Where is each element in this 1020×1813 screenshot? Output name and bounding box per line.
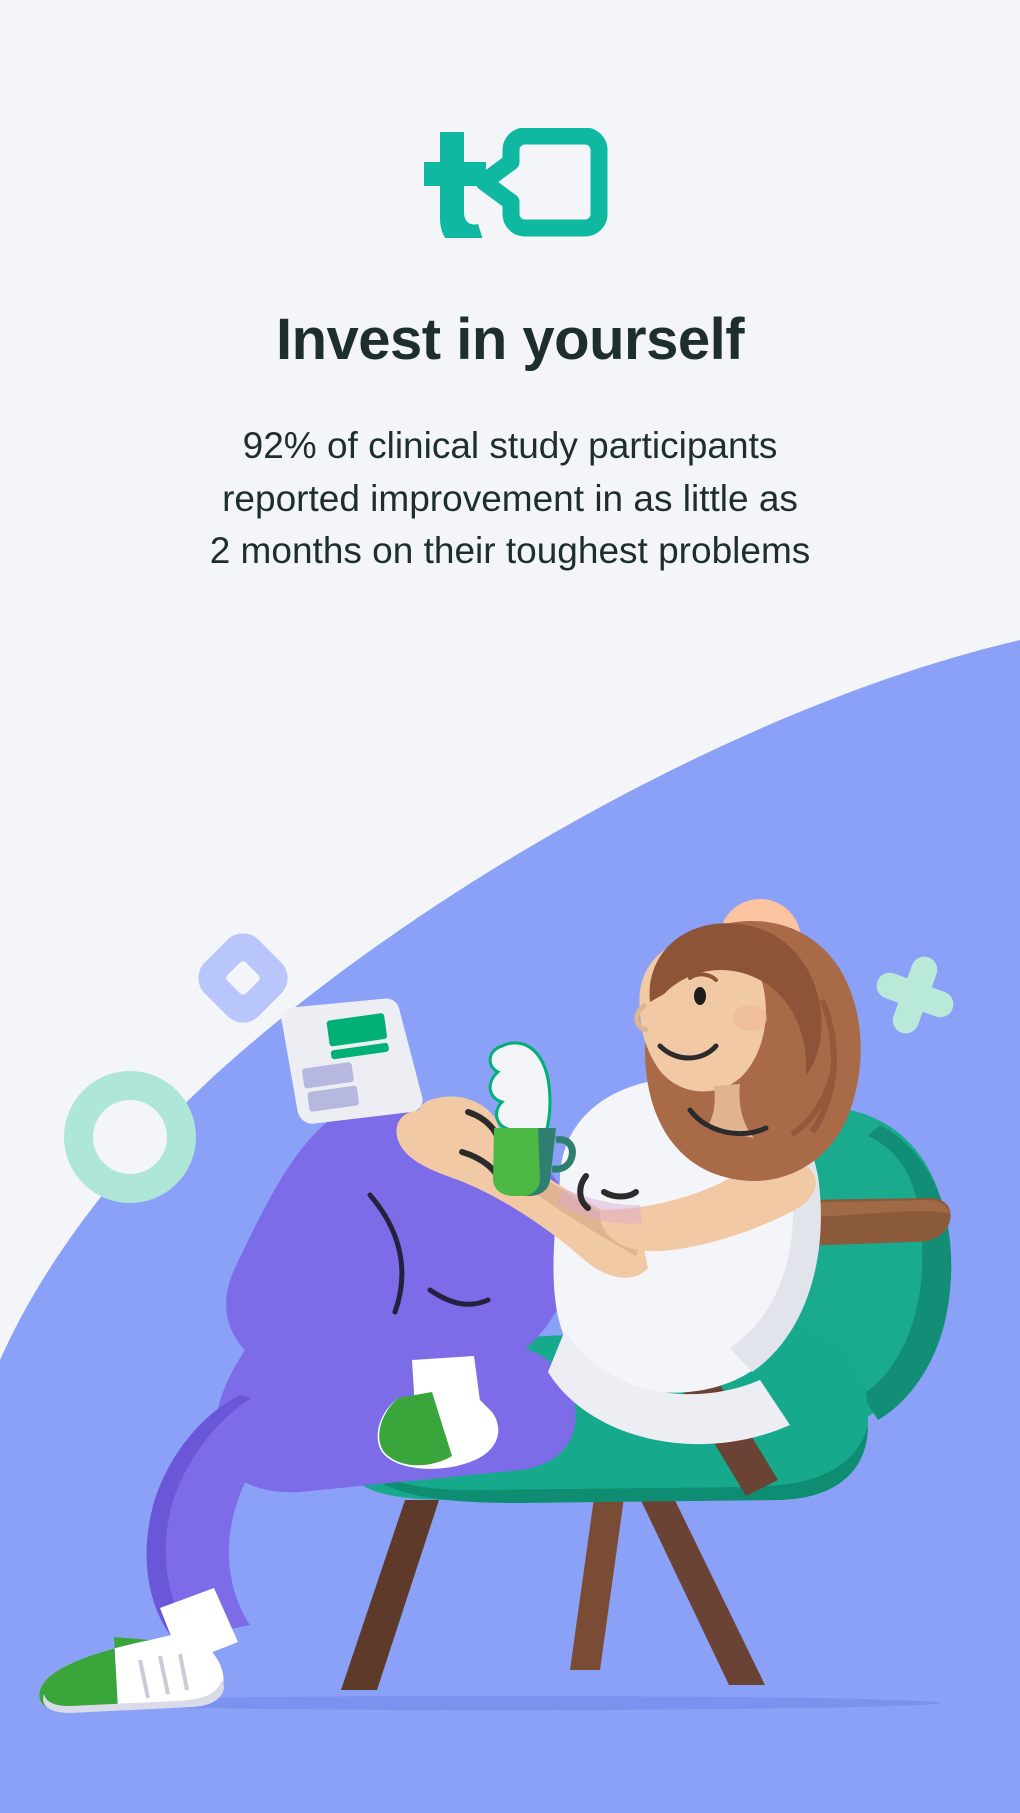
tablet-device	[280, 991, 424, 1128]
eye	[694, 987, 706, 1005]
chair-leg-back-right	[636, 1490, 765, 1685]
steam	[490, 1043, 550, 1132]
onboarding-screen: Invest in yourself 92% of clinical study…	[0, 0, 1020, 1813]
cheek	[733, 1005, 767, 1031]
mug-handle	[552, 1140, 572, 1169]
hero-illustration	[0, 0, 1020, 1813]
chair-leg-front-left	[341, 1500, 439, 1690]
coffee-mug	[490, 1043, 572, 1196]
